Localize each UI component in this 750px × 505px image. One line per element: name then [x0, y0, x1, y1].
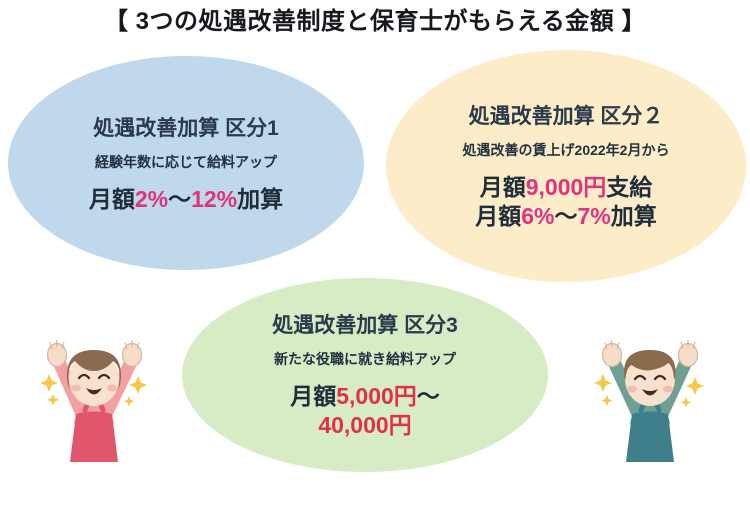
- bubble-kubun-3-heading: 処遇改善加算 区分3: [272, 314, 458, 338]
- amount-segment: 〜: [417, 383, 440, 409]
- infographic-canvas: 【 3つの処遇改善制度と保育士がもらえる金額 】 処遇改善加算 区分1 経験年数…: [0, 0, 750, 505]
- bubble-kubun-2-heading: 処遇改善加算 区分２: [469, 105, 664, 129]
- amount-segment: 40,000円: [318, 412, 411, 438]
- bubble-kubun-3-amount-line-1: 月額5,000円〜: [290, 382, 440, 411]
- bubble-kubun-3: 処遇改善加算 区分3 新たな役職に就き給料アップ 月額5,000円〜 40,00…: [182, 278, 548, 472]
- amount-segment: 〜: [168, 186, 191, 212]
- page-title-text: 【 3つの処遇改善制度と保育士がもらえる金額 】: [104, 10, 646, 34]
- bubble-kubun-2-amount-line-2: 月額6%〜7%加算: [475, 202, 657, 231]
- cheering-man-illustration: [582, 322, 718, 462]
- amount-segment: 月額: [475, 203, 521, 229]
- bubble-kubun-1-amount-line-1: 月額2%〜12%加算: [89, 185, 283, 214]
- amount-segment: 9,000円: [526, 174, 607, 200]
- amount-segment: 12%: [191, 186, 237, 212]
- bubble-kubun-1: 処遇改善加算 区分1 経験年数に応じて給料アップ 月額2%〜12%加算: [8, 56, 364, 270]
- bubble-kubun-3-subtitle: 新たな役職に就き給料アップ: [274, 351, 456, 368]
- amount-segment: 2%: [135, 186, 168, 212]
- apron: [626, 412, 674, 463]
- amount-segment: 6%: [521, 203, 554, 229]
- bubble-kubun-1-heading: 処遇改善加算 区分1: [93, 117, 279, 141]
- page-title: 【 3つの処遇改善制度と保育士がもらえる金額 】: [0, 0, 750, 44]
- bubble-kubun-2: 処遇改善加算 区分２ 処遇改善の賃上げ2022年2月から 月額9,000円支給 …: [386, 50, 746, 282]
- amount-segment: 月額: [480, 174, 526, 200]
- amount-segment: 加算: [611, 203, 657, 229]
- bubble-kubun-2-subtitle: 処遇改善の賃上げ2022年2月から: [463, 142, 670, 159]
- amount-segment: 支給: [606, 174, 652, 200]
- amount-segment: 5,000円: [336, 383, 417, 409]
- amount-segment: 月額: [89, 186, 135, 212]
- bubble-kubun-2-amount-line-1: 月額9,000円支給: [480, 173, 653, 202]
- amount-segment: 加算: [237, 186, 283, 212]
- amount-segment: 月額: [290, 383, 336, 409]
- amount-segment: 7%: [578, 203, 611, 229]
- cheering-woman-illustration: [26, 322, 162, 462]
- bubble-kubun-3-amount-line-2: 40,000円: [318, 411, 411, 440]
- bubble-kubun-1-subtitle: 経験年数に応じて給料アップ: [95, 154, 277, 171]
- apron: [70, 412, 118, 463]
- amount-segment: 〜: [555, 203, 578, 229]
